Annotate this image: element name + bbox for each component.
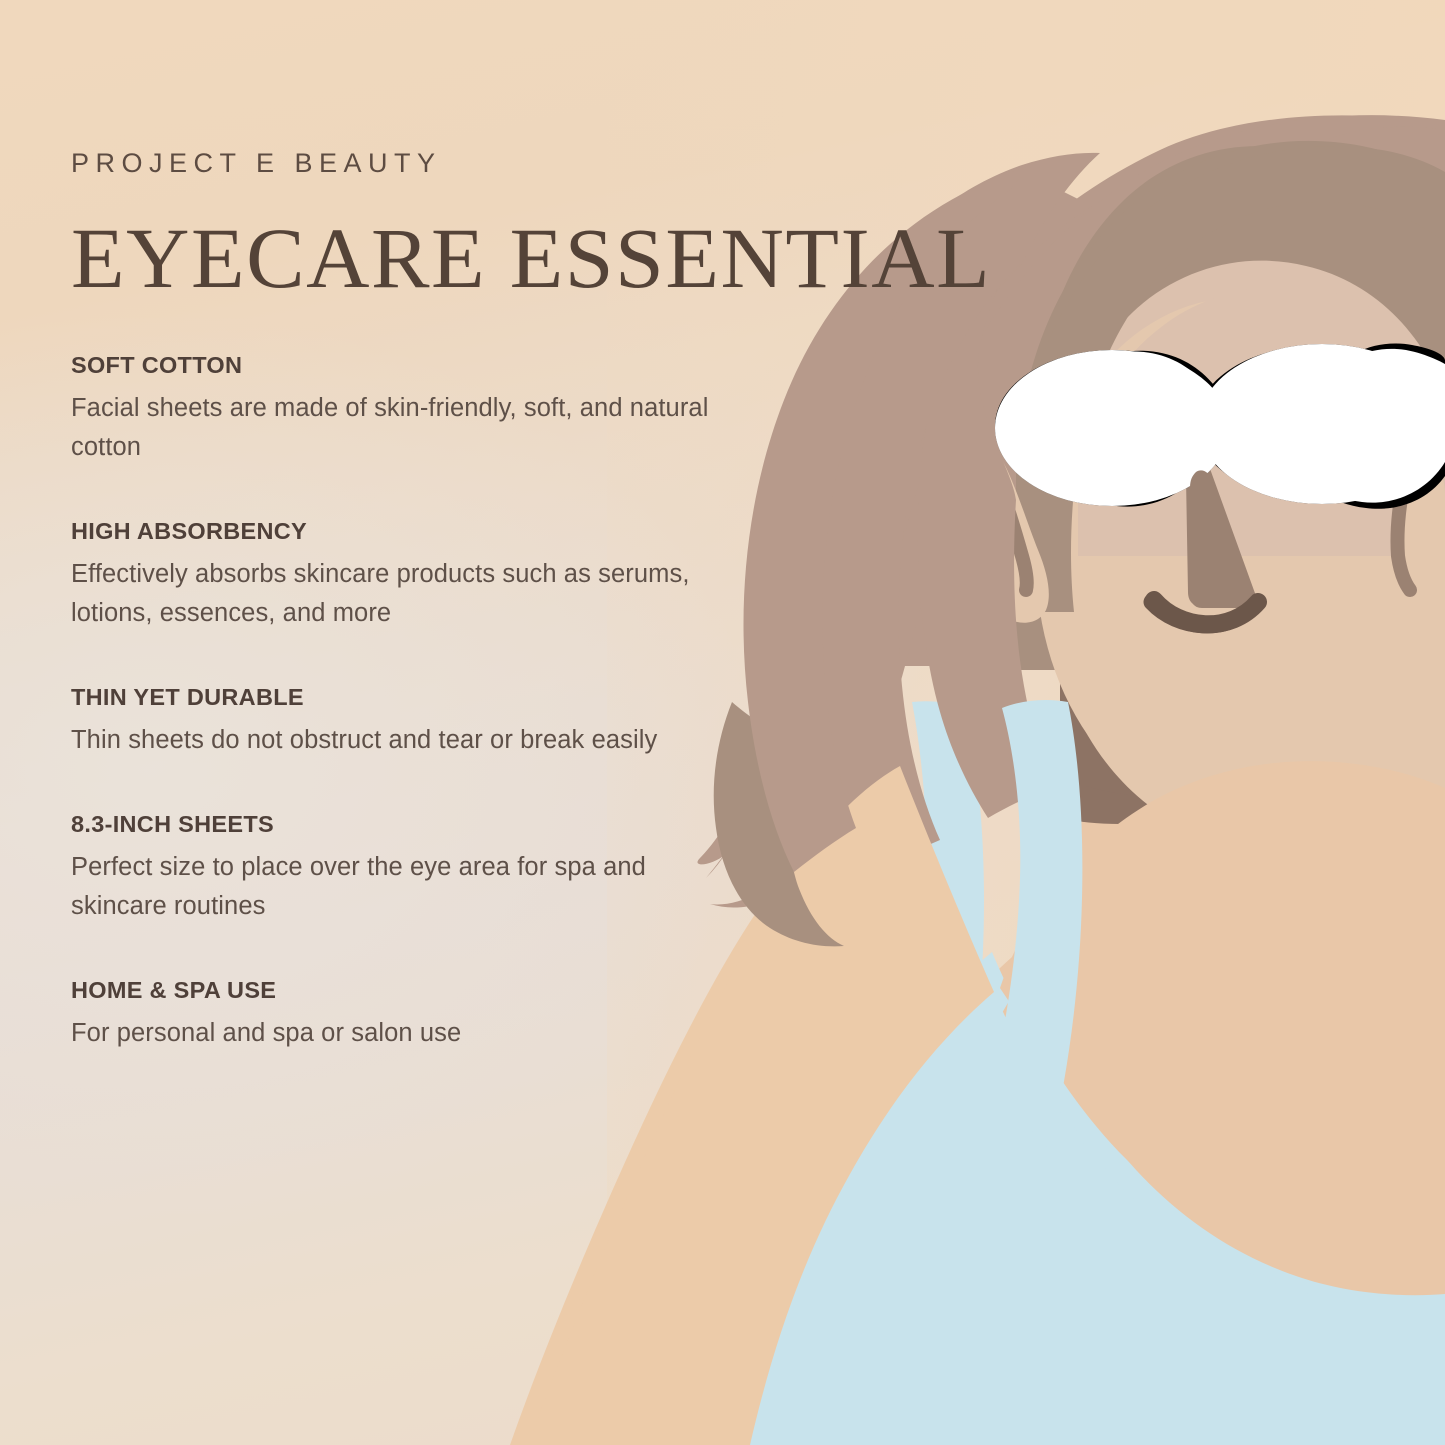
feature-title: 8.3-INCH SHEETS (71, 810, 711, 839)
text-content-column: PROJECT E BEAUTY EYECARE ESSENTIAL SOFT … (71, 0, 711, 1053)
page-title: EYECARE ESSENTIAL (71, 219, 724, 298)
feature-body: Thin sheets do not obstruct and tear or … (71, 721, 711, 760)
feature-item-high-absorbency: HIGH ABSORBENCY Effectively absorbs skin… (71, 517, 711, 633)
feature-list: SOFT COTTON Facial sheets are made of sk… (71, 351, 711, 1053)
feature-spacer (71, 926, 711, 976)
feature-body: Perfect size to place over the eye area … (71, 848, 711, 926)
feature-spacer (71, 467, 711, 517)
feature-title: HOME & SPA USE (71, 976, 711, 1005)
feature-item-soft-cotton: SOFT COTTON Facial sheets are made of sk… (71, 351, 711, 467)
feature-spacer (71, 633, 711, 683)
feature-body: For personal and spa or salon use (71, 1014, 711, 1053)
feature-body: Facial sheets are made of skin-friendly,… (71, 389, 711, 467)
feature-body: Effectively absorbs skincare products su… (71, 555, 711, 633)
feature-title: HIGH ABSORBENCY (71, 517, 711, 546)
feature-title: SOFT COTTON (71, 351, 711, 380)
feature-spacer (71, 760, 711, 810)
feature-title: THIN YET DURABLE (71, 683, 711, 712)
product-feature-poster: PROJECT E BEAUTY EYECARE ESSENTIAL SOFT … (0, 0, 1445, 1445)
feature-item-thin-yet-durable: THIN YET DURABLE Thin sheets do not obst… (71, 683, 711, 760)
feature-item-sheet-size: 8.3-INCH SHEETS Perfect size to place ov… (71, 810, 711, 926)
feature-item-home-spa-use: HOME & SPA USE For personal and spa or s… (71, 976, 711, 1053)
brand-name: PROJECT E BEAUTY (71, 150, 711, 177)
